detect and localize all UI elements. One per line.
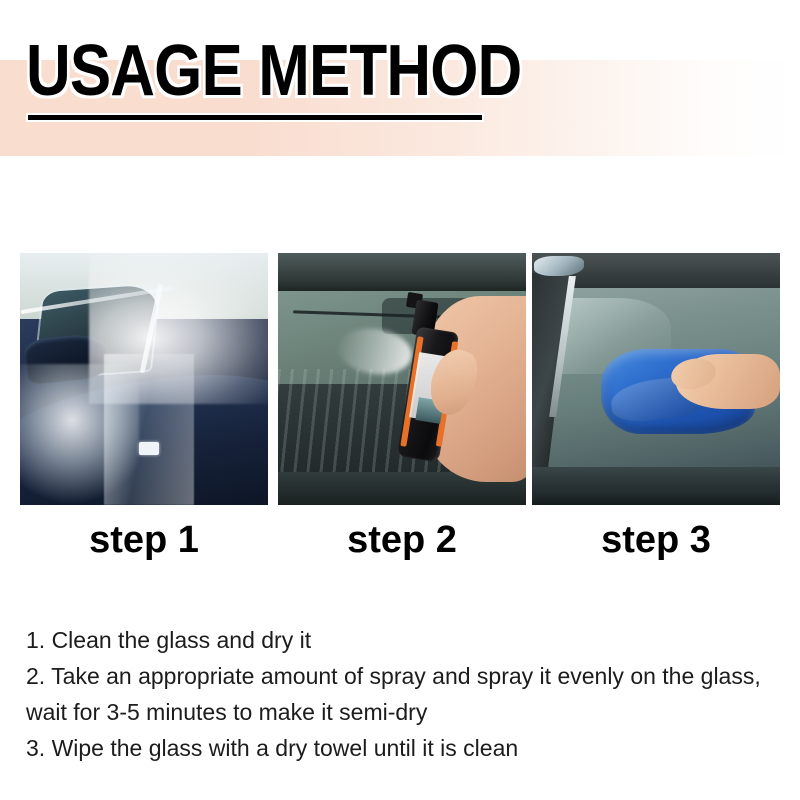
photo-car-roof [278,253,526,293]
instructions-list: 1. Clean the glass and dry it 2. Take an… [26,622,774,766]
title-underline-rule [26,113,484,122]
towel-wipe-photo [532,253,780,505]
photo-water-spray-secondary [20,364,139,505]
step-label-2: step 2 [278,519,526,562]
step-image-2 [278,253,526,505]
photo-headlight [534,256,584,276]
step-label-3: step 3 [532,519,780,562]
page-title: USAGE METHOD [26,34,521,108]
photo-car-hood [532,467,780,505]
car-wash-photo [20,253,268,505]
header-section: USAGE METHOD [0,0,800,175]
instruction-line-1: 1. Clean the glass and dry it [26,622,774,658]
photo-door-handle [139,442,159,455]
instruction-line-2: 2. Take an appropriate amount of spray a… [26,658,774,730]
spray-application-photo [278,253,526,505]
step-image-1 [20,253,268,505]
step-image-3 [532,253,780,505]
step-label-1: step 1 [20,519,268,562]
instruction-line-3: 3. Wipe the glass with a dry towel until… [26,730,774,766]
